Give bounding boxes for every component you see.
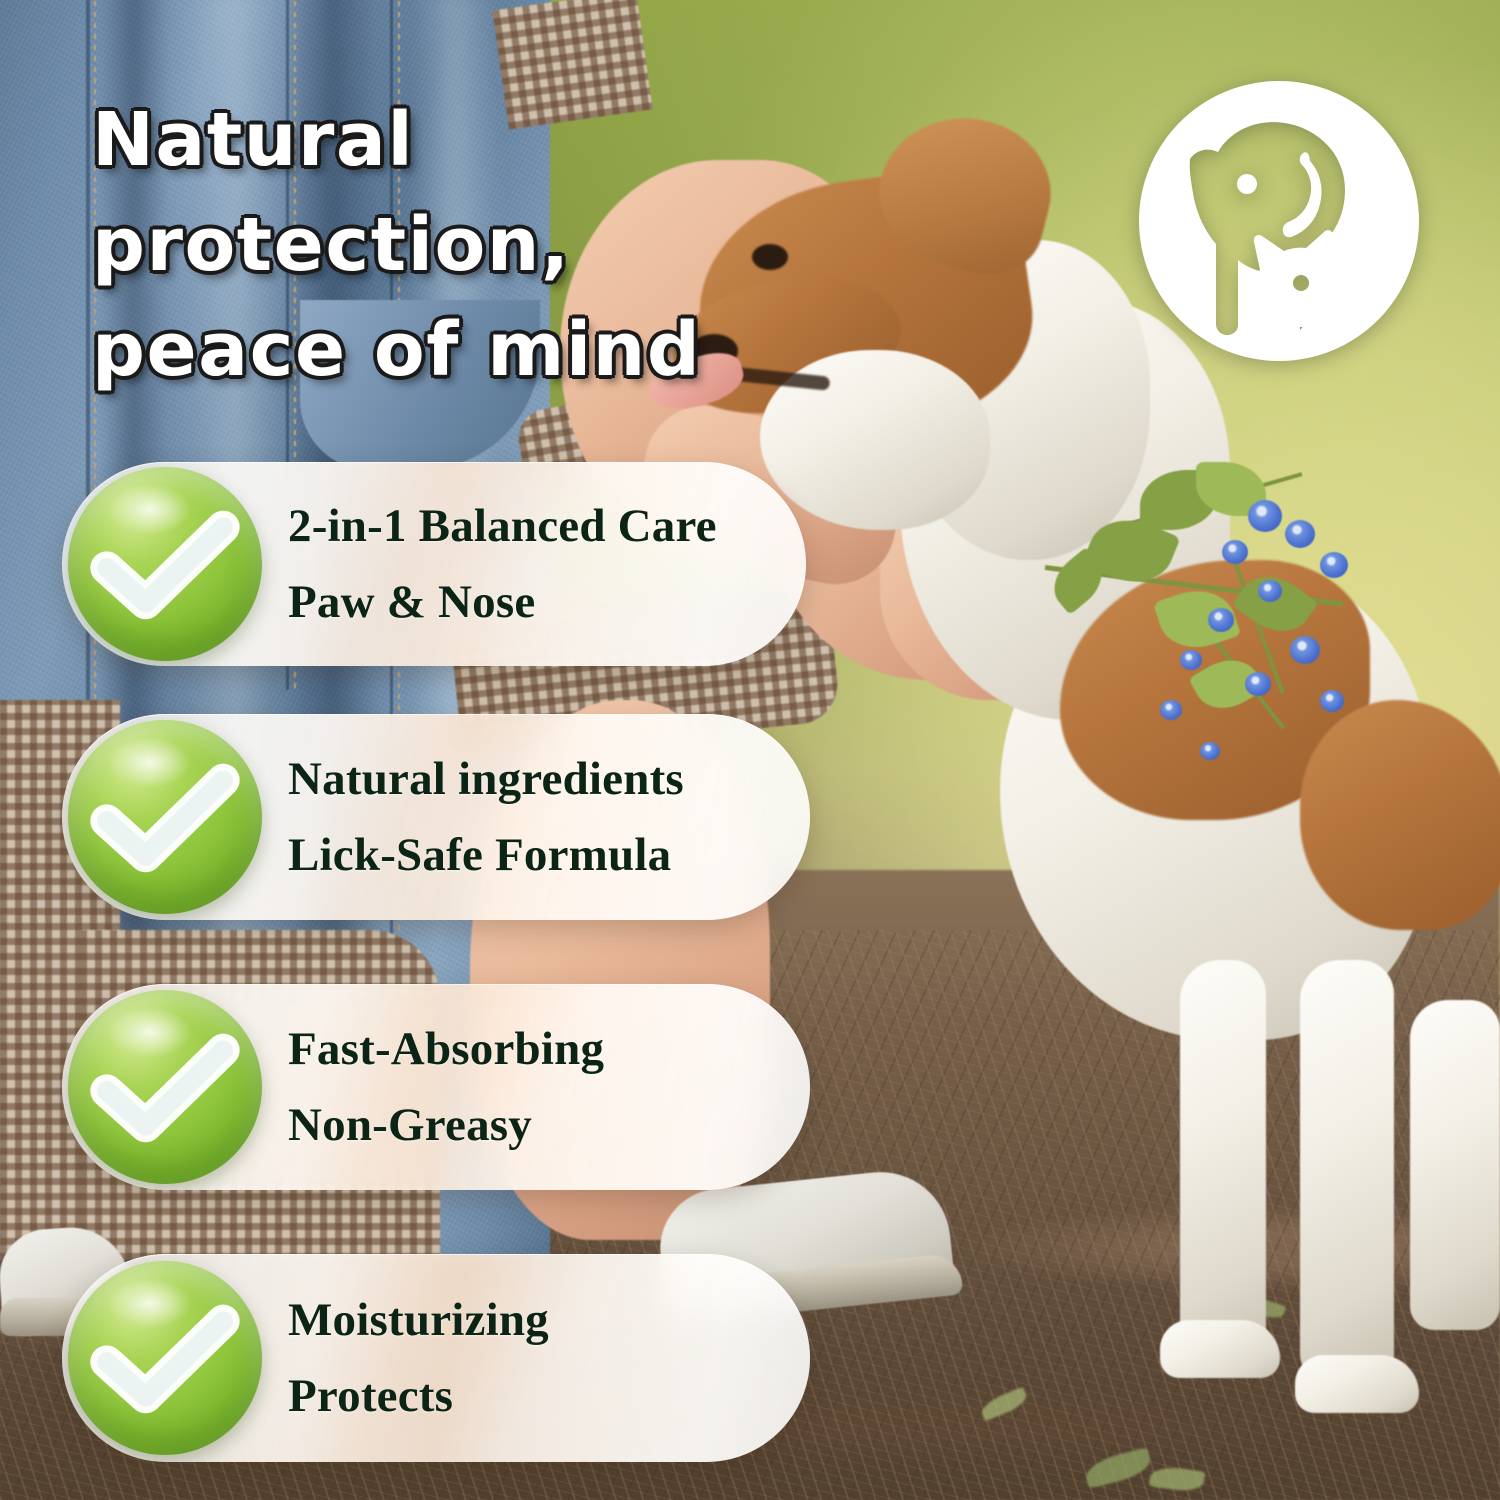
- product-infographic: Natural protection, peace of mind: [0, 0, 1500, 1500]
- feature-pill[interactable]: Natural ingredients Lick-Safe Formula: [62, 714, 810, 920]
- feature-pill[interactable]: Fast-Absorbing Non-Greasy: [62, 984, 810, 1190]
- blue-flower: [1245, 672, 1271, 696]
- feature-text: 2-in-1 Balanced Care Paw & Nose: [288, 488, 717, 640]
- blue-flower: [1285, 520, 1315, 548]
- green-check-icon: [68, 720, 262, 914]
- feature-text: Moisturizing Protects: [288, 1282, 549, 1434]
- blue-flower: [1208, 608, 1234, 632]
- headline-title: Natural protection, peace of mind: [92, 88, 852, 403]
- feature-line-1: 2-in-1 Balanced Care: [288, 500, 717, 552]
- dog-hind-leg: [1410, 1000, 1500, 1330]
- feature-line-1: Moisturizing: [288, 1294, 549, 1346]
- green-check-icon: [68, 990, 262, 1184]
- feature-line-1: Natural ingredients: [288, 753, 684, 805]
- green-check-icon: [68, 467, 262, 661]
- dog-paw: [1160, 1320, 1280, 1378]
- dog-rear-patch: [1300, 700, 1500, 930]
- feature-pill[interactable]: 2-in-1 Balanced Care Paw & Nose: [62, 462, 806, 666]
- dog-front-leg: [1300, 960, 1394, 1380]
- feature-line-2: Paw & Nose: [288, 564, 717, 640]
- feature-line-1: Fast-Absorbing: [288, 1023, 604, 1075]
- feature-text: Fast-Absorbing Non-Greasy: [288, 1011, 604, 1163]
- green-check-icon: [68, 1261, 262, 1455]
- blue-flower: [1222, 540, 1248, 564]
- feature-line-2: Protects: [288, 1358, 549, 1434]
- blue-flower: [1290, 636, 1320, 664]
- blue-flower: [1258, 580, 1282, 602]
- feature-text: Natural ingredients Lick-Safe Formula: [288, 741, 684, 893]
- feature-line-2: Non-Greasy: [288, 1087, 604, 1163]
- feature-pill[interactable]: Moisturizing Protects: [62, 1254, 810, 1462]
- blue-flower: [1160, 700, 1182, 720]
- blue-flower: [1320, 552, 1348, 578]
- blue-flower: [1248, 500, 1282, 532]
- blue-flower: [1320, 690, 1344, 712]
- dog-paw: [1295, 1355, 1419, 1413]
- dog-and-cat-logo: [1134, 76, 1424, 366]
- blue-flower: [1180, 650, 1202, 670]
- blue-flower: [1200, 742, 1220, 760]
- dog-front-leg: [1180, 960, 1266, 1360]
- feature-line-2: Lick-Safe Formula: [288, 817, 684, 893]
